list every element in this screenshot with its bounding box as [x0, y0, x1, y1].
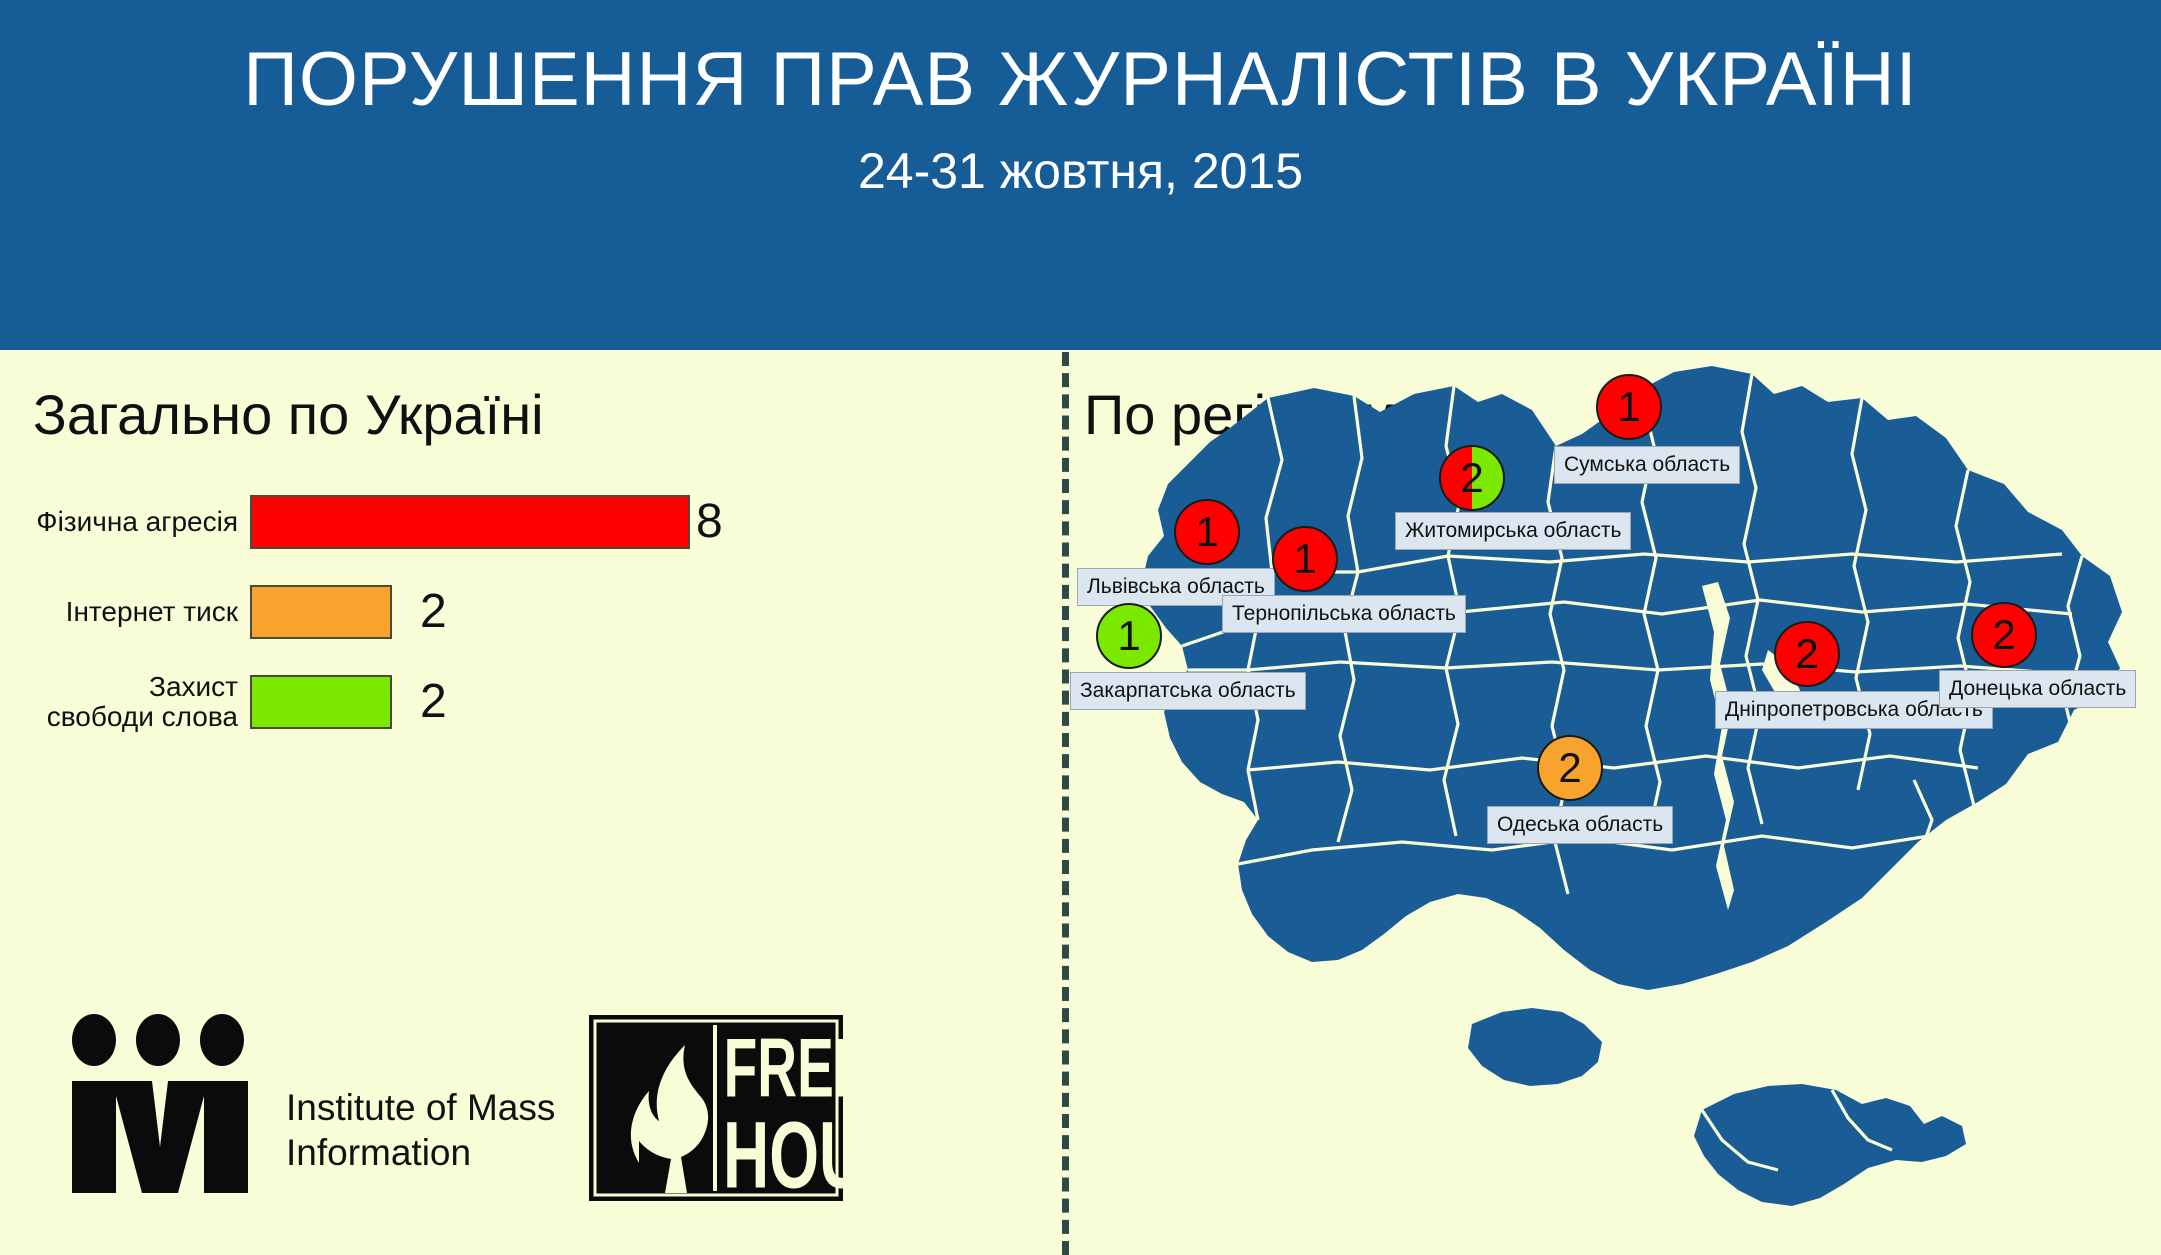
map-marker[interactable]: 1 — [1596, 374, 1662, 440]
ukraine-landmass — [1142, 366, 2122, 1206]
map-marker[interactable]: 1 — [1096, 603, 1162, 669]
infographic-root: ПОРУШЕННЯ ПРАВ ЖУРНАЛІСТІВ В УКРАЇНІ 24-… — [0, 0, 2161, 1255]
institute-of-mass-information-logo — [62, 1013, 260, 1203]
bar-value-label: 8 — [696, 498, 723, 546]
marker-count: 2 — [1558, 747, 1581, 789]
map-marker[interactable]: 1 — [1174, 499, 1240, 565]
page-title: ПОРУШЕННЯ ПРАВ ЖУРНАЛІСТІВ В УКРАЇНІ — [243, 42, 1917, 118]
map-marker[interactable]: 1 — [1272, 526, 1338, 592]
region-label: Житомирська область — [1395, 512, 1631, 550]
imi-organization-name: Institute of Mass Information — [286, 1041, 555, 1175]
bar-value-label: 2 — [420, 678, 447, 726]
bar-track — [250, 585, 392, 639]
region-label: Сумська область — [1554, 446, 1740, 484]
freedom-house-logo: FREEDOM HOUSE — [587, 1013, 845, 1203]
region-label: Одеська область — [1487, 806, 1673, 844]
map-marker[interactable]: 2 — [1774, 621, 1840, 687]
marker-count: 2 — [1992, 614, 2015, 656]
bar-value-label: 2 — [420, 588, 447, 636]
left-section-heading: Загально по Україні — [33, 387, 544, 443]
ukraine-map-svg — [1062, 350, 2161, 1255]
bar-row: Захист свободи слова2 — [0, 675, 447, 729]
bar-row: Фізична агресія8 — [0, 495, 723, 549]
bar-row: Інтернет тиск2 — [0, 585, 447, 639]
marker-count: 1 — [1293, 538, 1316, 580]
footer-logos: Institute of Mass Information FREEDOM HO… — [62, 1013, 845, 1203]
ukraine-map: 1Сумська область2Житомирська область1Льв… — [1062, 350, 2161, 1255]
bar-fill — [250, 495, 690, 549]
marker-count: 1 — [1617, 386, 1640, 428]
marker-count: 1 — [1195, 511, 1218, 553]
bar-label: Фізична агресія — [0, 507, 250, 537]
region-label: Закарпатська область — [1070, 672, 1306, 710]
bar-fill — [250, 585, 392, 639]
page-subtitle: 24-31 жовтня, 2015 — [858, 146, 1303, 196]
map-marker[interactable]: 2 — [1971, 602, 2037, 668]
marker-count: 1 — [1117, 615, 1140, 657]
map-panel: По регіонам — [1062, 350, 2161, 1255]
bar-track — [250, 675, 392, 729]
freedom-house-word-freedom: FREEDOM — [724, 1022, 845, 1115]
map-marker[interactable]: 2 — [1537, 735, 1603, 801]
region-label: Тернопільська область — [1222, 595, 1466, 633]
bar-label: Захист свободи слова — [0, 672, 250, 732]
map-marker[interactable]: 2 — [1439, 445, 1505, 511]
freedom-house-word-house: HOUSE — [723, 1103, 845, 1203]
marker-count: 2 — [1460, 457, 1483, 499]
bar-fill — [250, 675, 392, 729]
marker-count: 2 — [1795, 633, 1818, 675]
bar-track — [250, 495, 690, 549]
region-label: Донецька область — [1939, 670, 2136, 708]
bar-label: Інтернет тиск — [0, 597, 250, 627]
header-banner: ПОРУШЕННЯ ПРАВ ЖУРНАЛІСТІВ В УКРАЇНІ 24-… — [0, 0, 2161, 350]
